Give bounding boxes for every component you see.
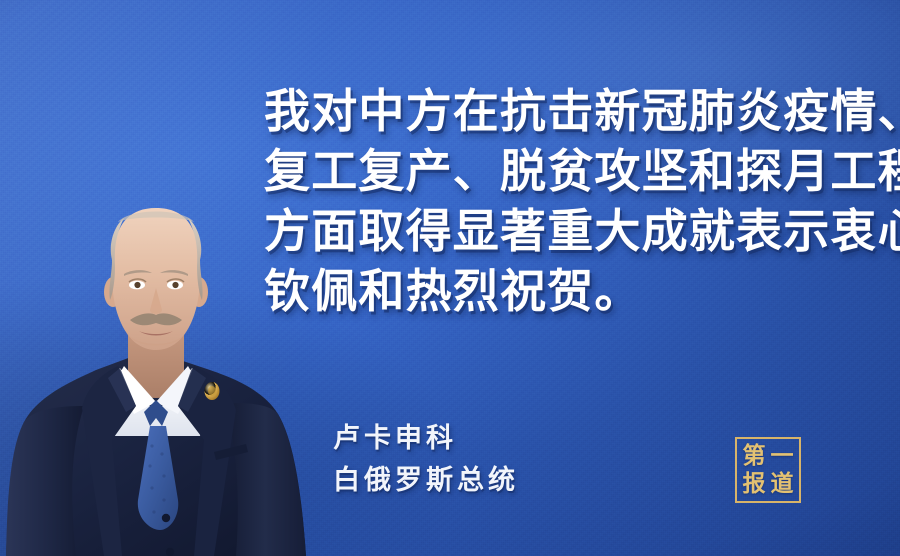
speaker-title: 白俄罗斯总统 (333, 459, 519, 501)
quote-card: 我对中方在抗击新冠肺炎疫情、 复工复产、脱贫攻坚和探月工程 方面取得显著重大成就… (0, 0, 900, 556)
badge-char-1: 第 (740, 442, 768, 470)
quote-text: 我对中方在抗击新冠肺炎疫情、 复工复产、脱贫攻坚和探月工程 方面取得显著重大成就… (264, 82, 876, 322)
quote-line-2: 复工复产、脱贫攻坚和探月工程 (264, 142, 876, 202)
badge-char-3: 报 (740, 470, 768, 498)
badge-char-4: 道 (768, 470, 796, 498)
brand-badge: 第 一 报 道 (735, 437, 801, 503)
speaker-name: 卢卡申科 (333, 417, 519, 459)
quote-line-4: 钦佩和热烈祝贺。 (264, 262, 876, 322)
quote-line-1: 我对中方在抗击新冠肺炎疫情、 (264, 82, 876, 142)
attribution: 卢卡申科 白俄罗斯总统 (333, 417, 519, 501)
quote-line-3: 方面取得显著重大成就表示衷心 (264, 202, 876, 262)
badge-char-2: 一 (768, 442, 796, 470)
